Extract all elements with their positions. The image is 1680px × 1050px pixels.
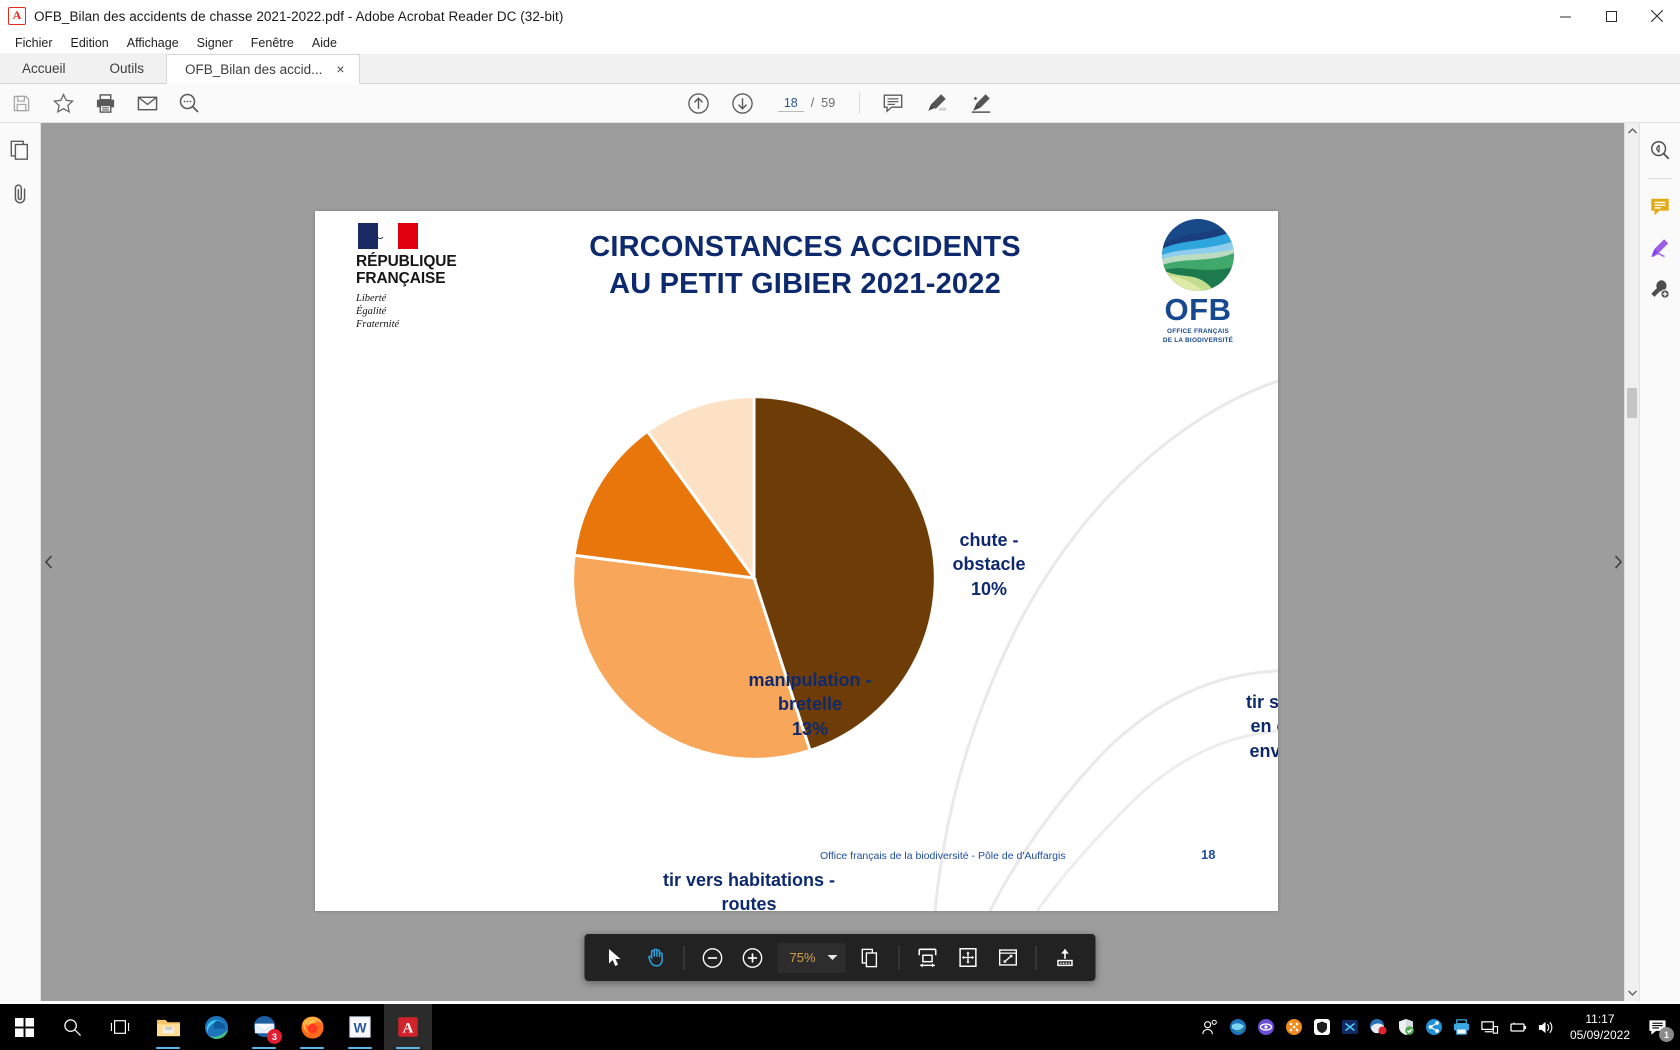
left-panel-toggle-icon[interactable]: [43, 545, 54, 579]
comment-icon[interactable]: [872, 84, 914, 123]
page-thumbnails-icon[interactable]: [5, 135, 35, 165]
ofb-wordmark: OFB: [1142, 294, 1254, 325]
pie-label-tir-vers-habitations: tir vers habitations - routes 32%: [629, 868, 869, 911]
acrobat-app-icon: A: [8, 7, 26, 25]
pdf-page: ～ RÉPUBLIQUE FRANÇAISE Liberté Égalité F…: [315, 211, 1278, 911]
running-indicator: [396, 1047, 420, 1050]
volume-icon[interactable]: [1532, 1004, 1560, 1050]
globe-icon[interactable]: [1224, 1004, 1252, 1050]
window-title-bar: A OFB_Bilan des accidents de chasse 2021…: [0, 0, 1680, 32]
label-value: 10%: [914, 577, 1064, 601]
vertical-scrollbar[interactable]: [1624, 123, 1639, 1001]
republique-francaise-logo: ～ RÉPUBLIQUE FRANÇAISE Liberté Égalité F…: [356, 223, 506, 332]
window-title: OFB_Bilan des accidents de chasse 2021-2…: [34, 9, 563, 24]
label-line: environnement: [1214, 739, 1278, 763]
zoom-in-icon[interactable]: [733, 939, 771, 977]
tab-document-label: OFB_Bilan des accid...: [185, 62, 322, 77]
toolbar-center-group: 18 / 59: [0, 84, 1680, 123]
share-upload-icon[interactable]: [1046, 939, 1084, 977]
purple-circle-icon[interactable]: [1252, 1004, 1280, 1050]
workspace: ～ RÉPUBLIQUE FRANÇAISE Liberté Égalité F…: [0, 123, 1680, 1001]
firefox-icon[interactable]: [288, 1004, 336, 1050]
svg-text:A: A: [403, 1021, 414, 1037]
running-indicator: [252, 1047, 276, 1050]
shield-icon[interactable]: [1308, 1004, 1336, 1050]
search-taskbar-icon[interactable]: [48, 1004, 96, 1050]
hand-tool-icon[interactable]: [636, 939, 674, 977]
label-value: 13%: [715, 717, 905, 741]
pie-label-chute-obstacle: chute - obstacle 10%: [914, 528, 1064, 601]
menu-bar: Fichier Edition Affichage Signer Fenêtre…: [0, 32, 1680, 54]
microsoft-word-icon[interactable]: W: [336, 1004, 384, 1050]
running-indicator: [348, 1047, 372, 1050]
search-icon[interactable]: [168, 84, 210, 123]
previous-page-icon[interactable]: [678, 84, 720, 123]
scroll-up-arrow-icon[interactable]: [1625, 123, 1639, 139]
menu-item-affichage[interactable]: Affichage: [118, 34, 188, 52]
save-icon[interactable]: [0, 84, 42, 123]
windows-taskbar: 3 W A: [0, 1004, 1680, 1050]
tab-document[interactable]: OFB_Bilan des accid... ×: [166, 54, 360, 84]
slide-page-number: 18: [1201, 847, 1215, 862]
network-icon[interactable]: [1476, 1004, 1504, 1050]
menu-item-fenetre[interactable]: Fenêtre: [242, 34, 303, 52]
close-button[interactable]: [1634, 0, 1680, 32]
label-line: manipulation -: [715, 668, 905, 692]
ofb-mark-icon: [1162, 219, 1234, 291]
file-explorer-icon[interactable]: [144, 1004, 192, 1050]
more-tools-icon[interactable]: [1645, 274, 1675, 304]
ofb-logo: OFB OFFICE FRANÇAIS DE LA BIODIVERSITÉ: [1142, 219, 1254, 345]
floatbar-divider-2: [899, 946, 900, 970]
clock-time: 11:17: [1570, 1011, 1630, 1027]
fit-width-icon[interactable]: [909, 939, 947, 977]
email-icon[interactable]: [126, 84, 168, 123]
menu-item-edition[interactable]: Edition: [62, 34, 118, 52]
marianne-glyph: ～: [372, 229, 384, 246]
fill-sign-tool-icon[interactable]: [1645, 233, 1675, 263]
republique-line2: FRANÇAISE: [356, 271, 506, 288]
republique-line1: RÉPUBLIQUE: [356, 254, 506, 271]
print-icon[interactable]: [84, 84, 126, 123]
label-line: tir vers habitations -: [629, 868, 869, 892]
chevron-down-icon[interactable]: [828, 955, 838, 960]
menu-item-signer[interactable]: Signer: [188, 34, 242, 52]
zoom-level-select[interactable]: 75%: [777, 943, 845, 973]
slide-title-line1: CIRCONSTANCES ACCIDENTS: [505, 229, 1105, 266]
menu-item-fichier[interactable]: Fichier: [6, 34, 62, 52]
menu-item-aide[interactable]: Aide: [303, 34, 346, 52]
tab-strip: Accueil Outils OFB_Bilan des accid... ×: [0, 54, 1680, 84]
scrollbar-thumb[interactable]: [1627, 388, 1637, 418]
fullscreen-icon[interactable]: [989, 939, 1027, 977]
svg-text:W: W: [353, 1020, 367, 1036]
notification-icon[interactable]: [1364, 1004, 1392, 1050]
action-center-badge: 1: [1659, 1027, 1674, 1042]
people-icon[interactable]: [1196, 1004, 1224, 1050]
highlight-icon[interactable]: [916, 84, 958, 123]
ofb-sub-line1: OFFICE FRANÇAIS: [1142, 328, 1254, 337]
right-tool-rail: [1639, 123, 1680, 1001]
search-tool-icon[interactable]: [1645, 135, 1675, 165]
floatbar-divider: [683, 946, 684, 970]
zoom-out-icon[interactable]: [693, 939, 731, 977]
ofb-sub-line2: DE LA BIODIVERSITÉ: [1142, 337, 1254, 346]
pie-label-tir-sans-environnement: tir sans prendre en compte son environne…: [1214, 690, 1278, 787]
label-line: bretelle: [715, 692, 905, 716]
page-number-input[interactable]: 18: [778, 95, 804, 112]
slide-footer: Office français de la biodiversité - Pôl…: [820, 850, 1066, 862]
minimize-button[interactable]: [1542, 0, 1588, 32]
maximize-button[interactable]: [1588, 0, 1634, 32]
mail-client-icon[interactable]: 3: [240, 1004, 288, 1050]
system-tray: 11:17 05/09/2022 1: [1196, 1004, 1680, 1050]
tab-close-icon[interactable]: ×: [336, 61, 344, 77]
adobe-acrobat-icon[interactable]: A: [384, 1004, 432, 1050]
blue-x-icon[interactable]: [1336, 1004, 1364, 1050]
slide-title: CIRCONSTANCES ACCIDENTS AU PETIT GIBIER …: [505, 229, 1105, 303]
slide-title-line2: AU PETIT GIBIER 2021-2022: [505, 266, 1105, 303]
window-controls: [1542, 0, 1680, 32]
fill-sign-icon[interactable]: [960, 84, 1002, 123]
label-line: routes: [629, 892, 869, 911]
page-display-icon[interactable]: [852, 939, 890, 977]
pie-label-manipulation-bretelle: manipulation - bretelle 13%: [715, 668, 905, 741]
orange-dots-icon[interactable]: [1280, 1004, 1308, 1050]
microsoft-edge-icon[interactable]: [192, 1004, 240, 1050]
motto-liberte: Liberté: [356, 292, 506, 305]
zoom-level-value: 75%: [789, 950, 815, 965]
scroll-down-arrow-icon[interactable]: [1625, 985, 1639, 1001]
label-line: chute -: [914, 528, 1064, 552]
printer-icon[interactable]: [1448, 1004, 1476, 1050]
running-indicator: [156, 1047, 180, 1050]
task-view-icon[interactable]: [96, 1004, 144, 1050]
clock[interactable]: 11:17 05/09/2022: [1560, 1011, 1640, 1043]
motto-egalite: Égalité: [356, 305, 506, 318]
page-separator: /: [811, 96, 814, 110]
page-navigator: 18 / 59: [778, 95, 835, 112]
right-panel-toggle-icon[interactable]: [1612, 545, 1623, 579]
mail-badge: 3: [267, 1029, 282, 1044]
star-icon[interactable]: [42, 84, 84, 123]
windows-security-icon[interactable]: [1392, 1004, 1420, 1050]
rail-divider: [1648, 178, 1672, 179]
share-icon[interactable]: [1420, 1004, 1448, 1050]
fit-page-icon[interactable]: [949, 939, 987, 977]
document-viewport[interactable]: ～ RÉPUBLIQUE FRANÇAISE Liberté Égalité F…: [41, 123, 1639, 1001]
tab-outils[interactable]: Outils: [88, 53, 167, 83]
action-center-icon[interactable]: 1: [1640, 1004, 1674, 1050]
label-line: obstacle: [914, 552, 1064, 576]
clock-date: 05/09/2022: [1570, 1027, 1630, 1043]
floating-page-toolbar: 75%: [584, 934, 1095, 981]
pie-chart: chute - obstacle 10% manipulation - bret…: [569, 393, 939, 763]
main-toolbar: 18 / 59: [0, 84, 1680, 123]
start-button[interactable]: [0, 1004, 48, 1050]
battery-icon[interactable]: [1504, 1004, 1532, 1050]
attachments-icon[interactable]: [5, 179, 35, 209]
next-page-icon[interactable]: [722, 84, 764, 123]
tab-accueil[interactable]: Accueil: [0, 53, 88, 83]
label-line: tir sans prendre: [1214, 690, 1278, 714]
label-value: 45%: [1214, 763, 1278, 787]
page-total: 59: [821, 96, 835, 110]
french-flag-icon: ～: [358, 223, 418, 249]
label-line: en compte son: [1214, 714, 1278, 738]
toolbar-divider: [859, 92, 860, 114]
left-tool-rail: [0, 123, 41, 1001]
running-indicator: [300, 1047, 324, 1050]
floatbar-divider-3: [1036, 946, 1037, 970]
select-tool-icon[interactable]: [596, 939, 634, 977]
motto-fraternite: Fraternité: [356, 318, 506, 331]
comment-tool-icon[interactable]: [1645, 192, 1675, 222]
